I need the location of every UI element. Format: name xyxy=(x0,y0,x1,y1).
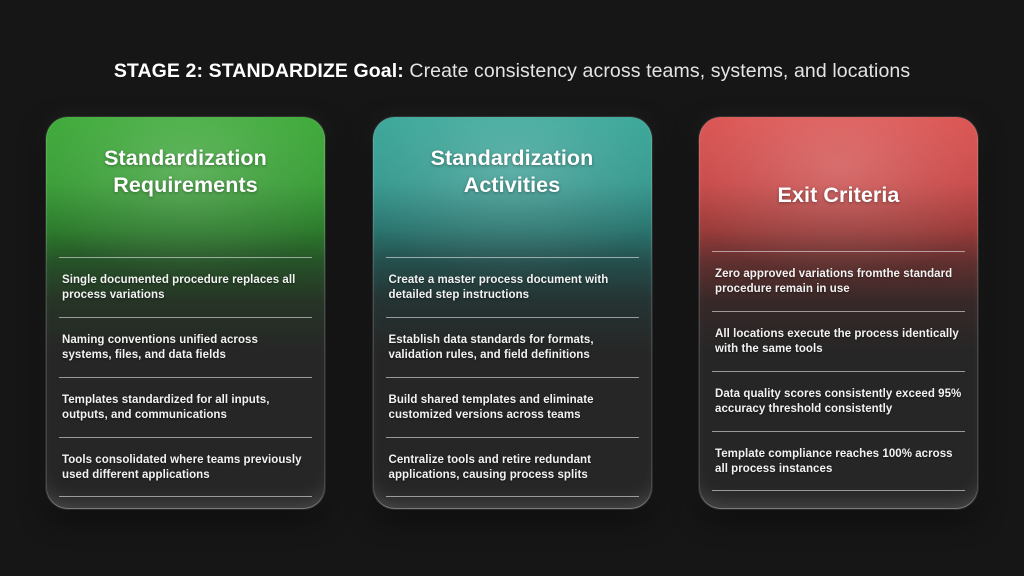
list-item: All locations execute the process identi… xyxy=(712,311,965,371)
list-item-text: Templates standardized for all inputs, o… xyxy=(59,393,312,422)
card-item-list: Create a master process document with de… xyxy=(386,257,639,497)
list-item-text: All locations execute the process identi… xyxy=(712,327,965,356)
list-item: Zero approved variations fromthe standar… xyxy=(712,251,965,311)
heading-stage-label: STAGE 2: STANDARDIZE Goal: xyxy=(114,60,404,82)
list-item: Centralize tools and retire redundant ap… xyxy=(386,437,639,497)
list-item: Tools consolidated where teams previousl… xyxy=(59,437,312,497)
list-item-text: Establish data standards for formats, va… xyxy=(386,333,639,362)
card-standardization-activities[interactable]: Standardization Activities Create a mast… xyxy=(373,117,652,509)
list-item: Build shared templates and eliminate cus… xyxy=(386,377,639,437)
card-title: Standardization Activities xyxy=(373,145,652,257)
list-item: Template compliance reaches 100% across … xyxy=(712,431,965,491)
list-item-text: Zero approved variations fromthe standar… xyxy=(712,267,965,296)
card-item-list: Zero approved variations fromthe standar… xyxy=(712,251,965,491)
slide-canvas: STAGE 2: STANDARDIZE Goal: Create consis… xyxy=(0,0,1024,576)
list-item: Establish data standards for formats, va… xyxy=(386,317,639,377)
list-item: Data quality scores consistently exceed … xyxy=(712,371,965,431)
list-item-text: Naming conventions unified across system… xyxy=(59,333,312,362)
list-item-text: Tools consolidated where teams previousl… xyxy=(59,453,312,482)
card-title: Standardization Requirements xyxy=(46,145,325,257)
slide-heading: STAGE 2: STANDARDIZE Goal: Create consis… xyxy=(0,57,1024,85)
list-item-text: Single documented procedure replaces all… xyxy=(59,273,312,302)
list-item: Single documented procedure replaces all… xyxy=(59,257,312,317)
list-item-text: Centralize tools and retire redundant ap… xyxy=(386,453,639,482)
card-item-list: Single documented procedure replaces all… xyxy=(59,257,312,497)
card-exit-criteria[interactable]: Exit Criteria Zero approved variations f… xyxy=(699,117,978,509)
list-item: Naming conventions unified across system… xyxy=(59,317,312,377)
list-item-text: Create a master process document with de… xyxy=(386,273,639,302)
cards-row: Standardization Requirements Single docu… xyxy=(46,117,978,509)
list-item: Create a master process document with de… xyxy=(386,257,639,317)
card-title: Exit Criteria xyxy=(699,139,978,251)
list-item-text: Build shared templates and eliminate cus… xyxy=(386,393,639,422)
list-item-text: Template compliance reaches 100% across … xyxy=(712,447,965,476)
list-item: Templates standardized for all inputs, o… xyxy=(59,377,312,437)
card-standardization-requirements[interactable]: Standardization Requirements Single docu… xyxy=(46,117,325,509)
heading-goal-text: Create consistency across teams, systems… xyxy=(404,60,910,82)
list-item-text: Data quality scores consistently exceed … xyxy=(712,387,965,416)
